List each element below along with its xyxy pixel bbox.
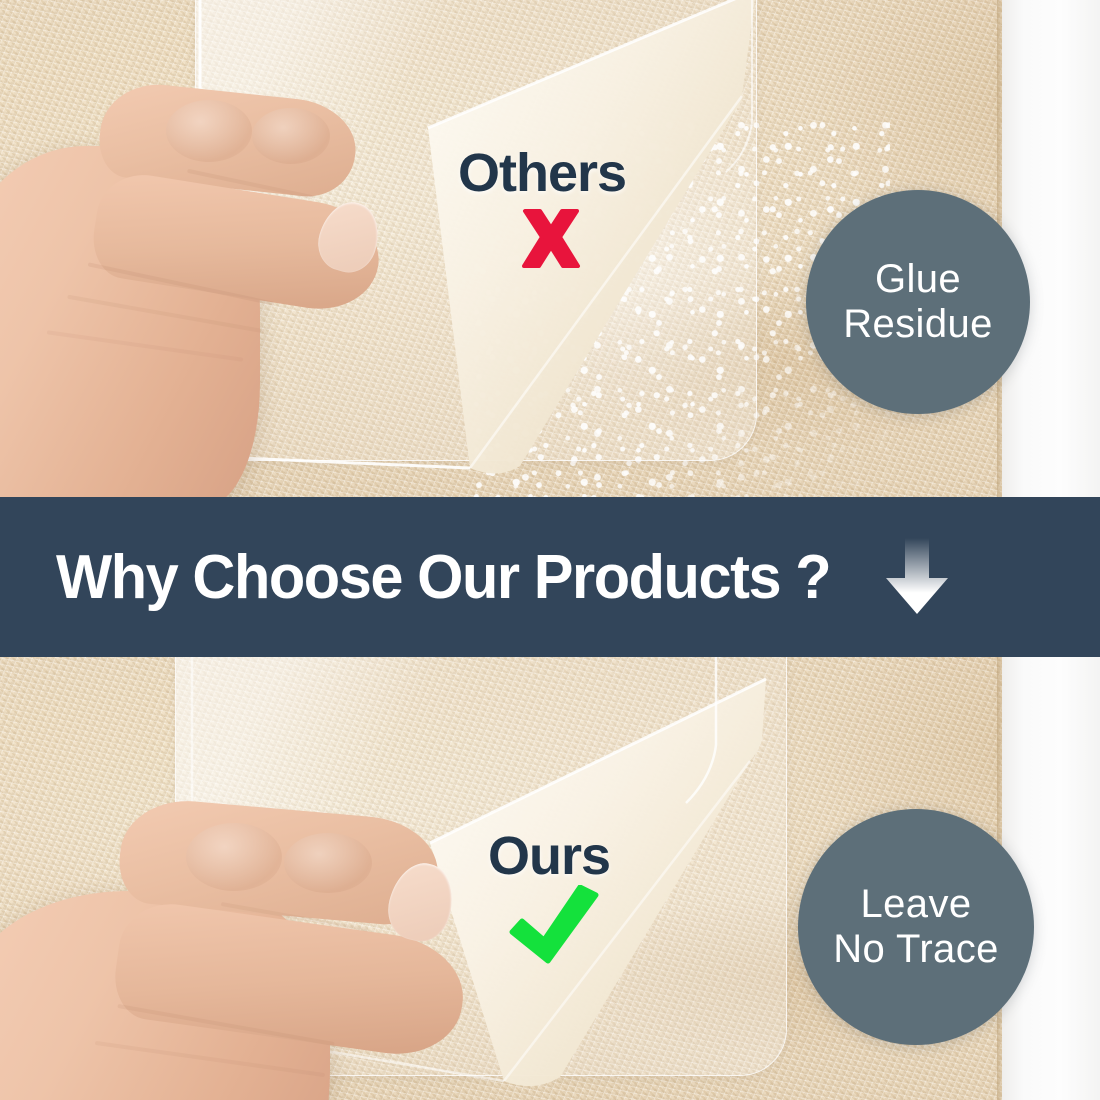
down-arrow-icon <box>884 538 950 616</box>
green-check-icon <box>506 885 602 967</box>
why-choose-banner: Why Choose Our Products ? <box>0 497 1100 657</box>
knuckle-1 <box>166 100 252 162</box>
callout-leave-no-trace-label: Leave No Trace <box>833 882 999 972</box>
hand-peeling-ours <box>0 813 490 1100</box>
callout-glue-residue-label: Glue Residue <box>843 257 993 347</box>
knuckle-1 <box>186 823 282 891</box>
knuckle-2 <box>284 833 372 893</box>
infographic-root: Glue Residue Others Why Choose Our Produ… <box>0 0 1100 1100</box>
panel-others: Glue Residue Others <box>0 0 1100 500</box>
panel-ours: Leave No Trace Ours <box>0 657 1100 1100</box>
callout-leave-no-trace: Leave No Trace <box>798 809 1034 1045</box>
knuckle-2 <box>252 108 330 164</box>
verdict-label-ours: Ours <box>488 825 610 887</box>
banner-title: Why Choose Our Products ? <box>56 542 830 613</box>
hand-peeling-others <box>0 86 410 500</box>
callout-glue-residue: Glue Residue <box>806 190 1030 414</box>
red-cross-icon <box>516 206 586 272</box>
verdict-label-others: Others <box>458 142 626 204</box>
